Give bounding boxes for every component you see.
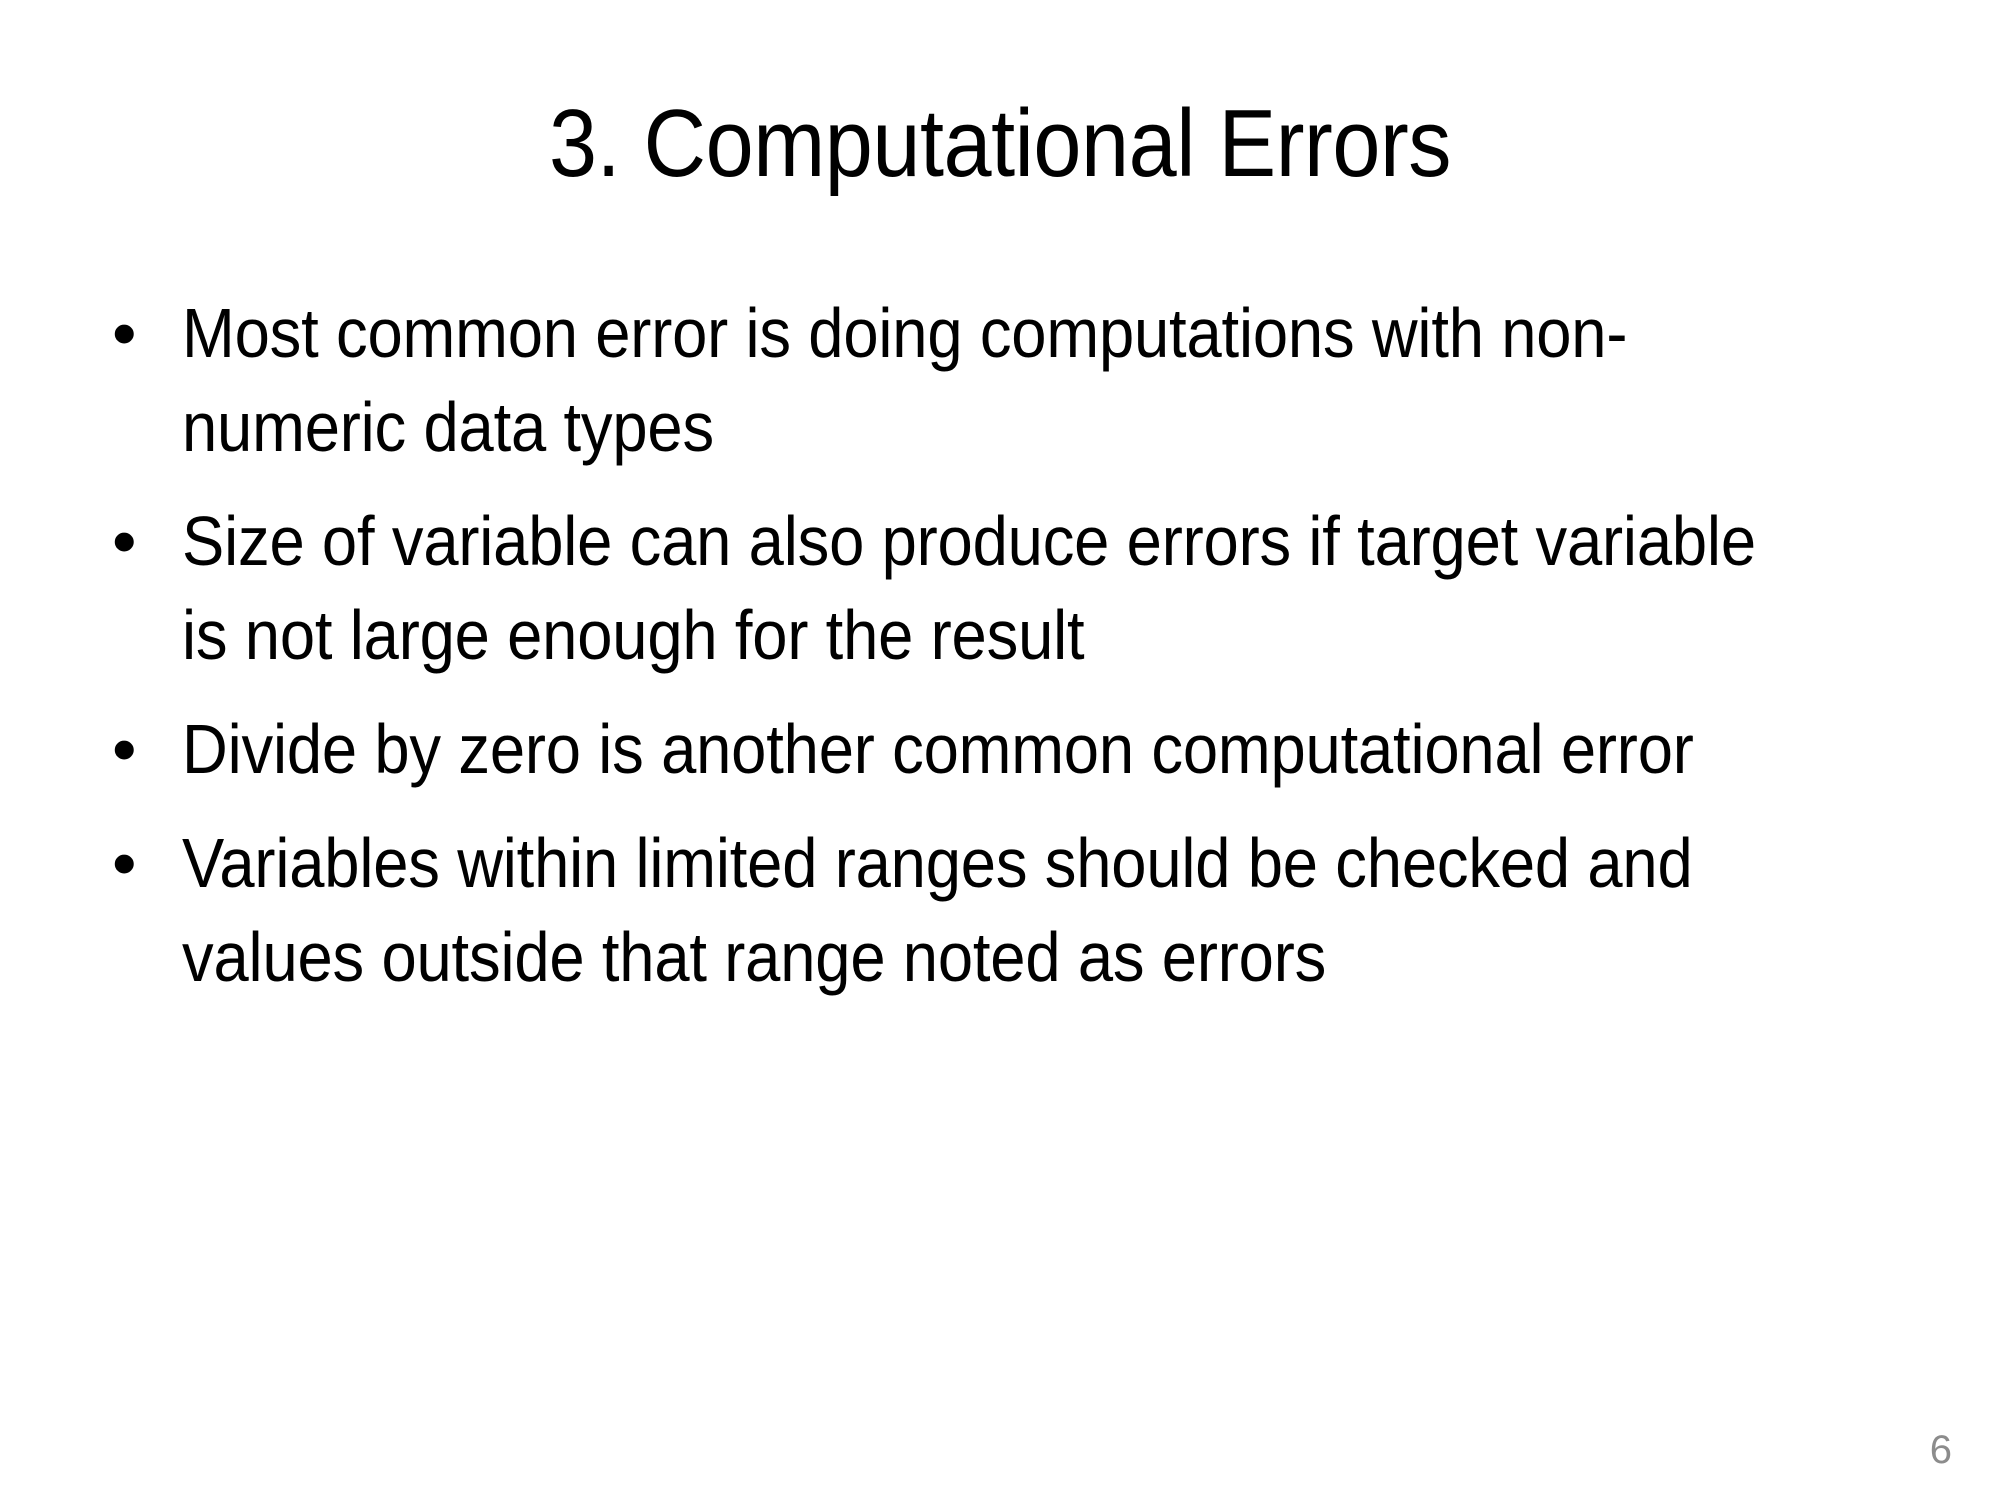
list-item-text: Variables within limited ranges should b… <box>182 816 1777 1004</box>
page-title: 3. Computational Errors <box>100 96 1900 192</box>
list-item: • Most common error is doing computation… <box>104 286 1944 474</box>
bullet-list: • Most common error is doing computation… <box>104 286 1944 1024</box>
list-item-text: Most common error is doing computations … <box>182 286 1777 474</box>
list-item-text: Divide by zero is another common computa… <box>182 702 1777 796</box>
list-item: • Size of variable can also produce erro… <box>104 494 1944 682</box>
bullet-point-icon: • <box>104 702 182 796</box>
list-item: • Variables within limited ranges should… <box>104 816 1944 1004</box>
presentation-slide: 3. Computational Errors • Most common er… <box>0 0 2000 1500</box>
list-item-text: Size of variable can also produce errors… <box>182 494 1777 682</box>
slide-number: 6 <box>1930 1430 1952 1470</box>
bullet-point-icon: • <box>104 286 182 380</box>
list-item: • Divide by zero is another common compu… <box>104 702 1944 796</box>
bullet-point-icon: • <box>104 816 182 910</box>
bullet-point-icon: • <box>104 494 182 588</box>
